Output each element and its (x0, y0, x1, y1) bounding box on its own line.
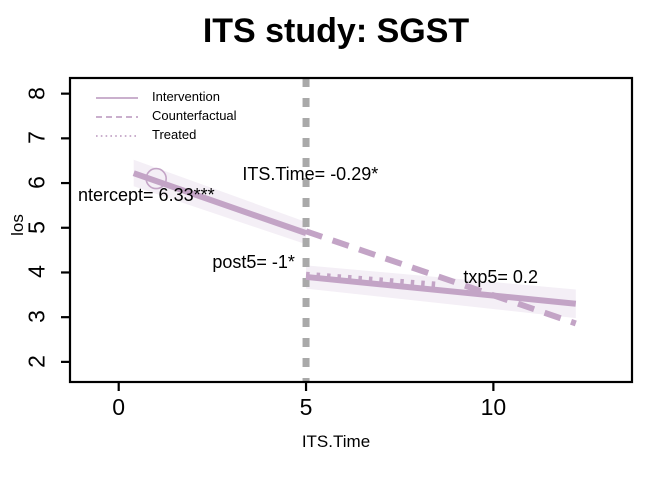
x-tick-label: 5 (286, 394, 326, 421)
x-tick-label: 10 (473, 394, 513, 421)
x-axis-label: ITS.Time (0, 432, 672, 452)
legend-label-intervention: Intervention (152, 89, 220, 104)
annotation-txp5: txp5= 0.2 (463, 267, 538, 288)
annotation-its-time: ITS.Time= -0.29* (242, 164, 378, 185)
y-tick-label: 6 (24, 168, 51, 198)
annotation-intercept: ntercept= 6.33*** (78, 185, 215, 206)
y-tick-label: 3 (24, 302, 51, 332)
y-tick-label: 2 (24, 346, 51, 376)
legend-label-counterfactual: Counterfactual (152, 108, 237, 123)
x-tick-label: 0 (99, 394, 139, 421)
y-tick-label: 5 (24, 212, 51, 242)
legend-label-treated: Treated (152, 127, 196, 142)
annotation-post5: post5= -1* (212, 252, 295, 273)
y-tick-label: 7 (24, 123, 51, 153)
y-tick-label: 8 (24, 78, 51, 108)
its-plot: ITS study: SGST ITS.Time los 05102345678… (0, 0, 672, 480)
y-tick-label: 4 (24, 257, 51, 287)
page-title: ITS study: SGST (0, 12, 672, 51)
